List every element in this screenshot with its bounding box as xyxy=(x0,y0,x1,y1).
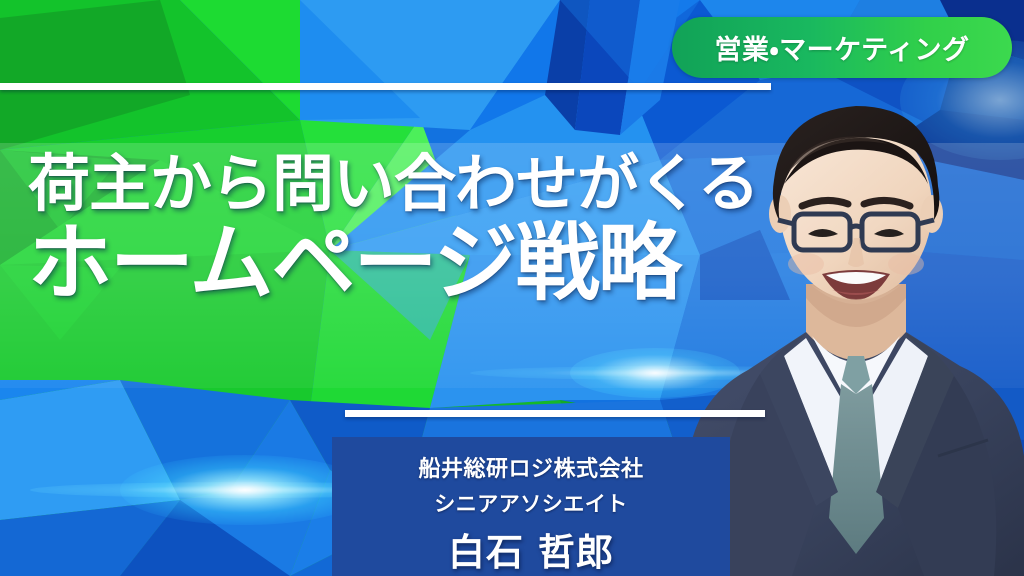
page-title: 荷主から問い合わせがくる ホームページ戦略 xyxy=(28,152,828,307)
speaker-name: 白石 哲郎 xyxy=(448,522,614,576)
speaker-role: シニアアソシエイト xyxy=(434,488,628,518)
category-badge: 営業・マーケティング xyxy=(672,17,1012,78)
webinar-title-slide: 営業・マーケティング 荷主から問い合わせがくる ホームページ戦略 船井総研ロジ株… xyxy=(0,0,1024,576)
headline-line-2: ホームページ戦略 xyxy=(28,221,828,307)
bottom-divider-rule xyxy=(345,410,765,417)
speaker-company: 船井総研ロジ株式会社 xyxy=(418,451,643,483)
top-divider-rule xyxy=(0,83,771,90)
headline-line-1: 荷主から問い合わせがくる xyxy=(28,152,828,215)
category-badge-label: 営業・マーケティング xyxy=(714,28,969,67)
speaker-info-panel: 船井総研ロジ株式会社 シニアアソシエイト 白石 哲郎 xyxy=(332,437,730,576)
